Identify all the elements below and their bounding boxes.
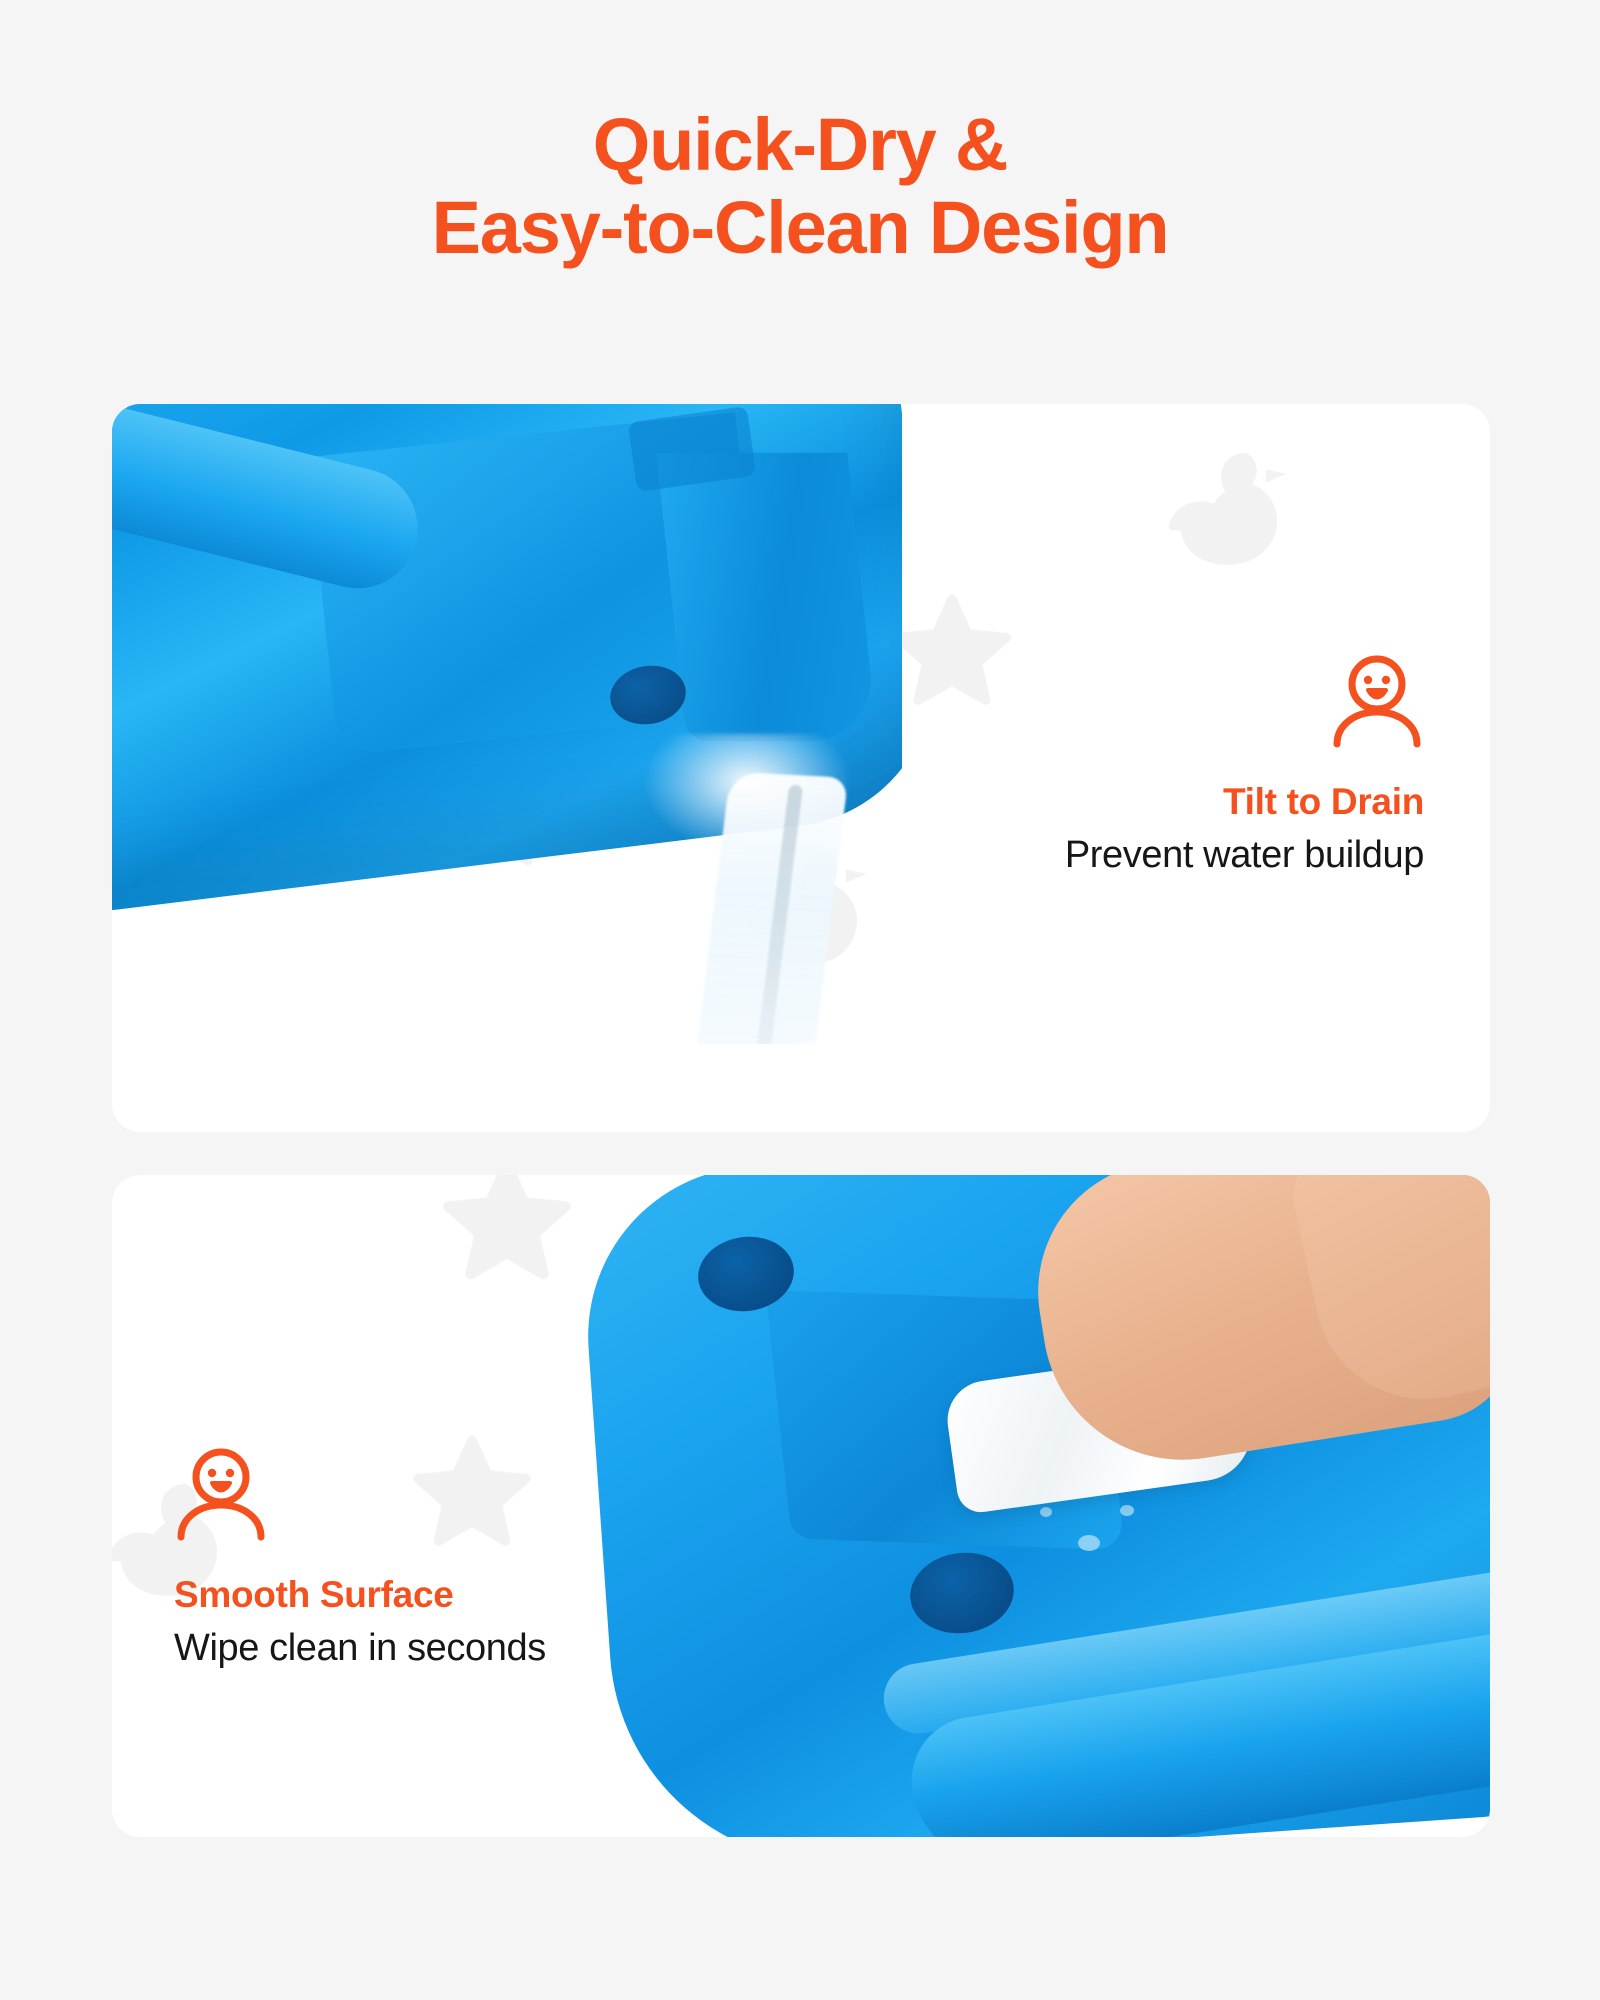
feature-description: Wipe clean in seconds [174, 1624, 546, 1673]
product-photo-tilt-to-drain [112, 404, 902, 1044]
smiley-person-icon [174, 1447, 546, 1548]
feature-card-smooth-surface: Smooth Surface Wipe clean in seconds [112, 1175, 1490, 1837]
page-title-line-2: Easy-to-Clean Design [0, 187, 1600, 270]
product-photo-smooth-surface [480, 1175, 1490, 1837]
feature-description: Prevent water buildup [1065, 831, 1424, 880]
feature-text-smooth-surface: Smooth Surface Wipe clean in seconds [174, 1447, 546, 1674]
rubber-duck-watermark [1152, 444, 1302, 584]
star-watermark [892, 594, 1012, 710]
page-title-line-1: Quick-Dry & [0, 104, 1600, 187]
feature-card-tilt-to-drain: Tilt to Drain Prevent water buildup [112, 404, 1490, 1132]
page-title: Quick-Dry & Easy-to-Clean Design [0, 0, 1600, 270]
smiley-person-icon [1065, 654, 1424, 755]
feature-title: Smooth Surface [174, 1572, 546, 1618]
feature-title: Tilt to Drain [1065, 779, 1424, 825]
feature-text-tilt-to-drain: Tilt to Drain Prevent water buildup [1065, 654, 1424, 881]
